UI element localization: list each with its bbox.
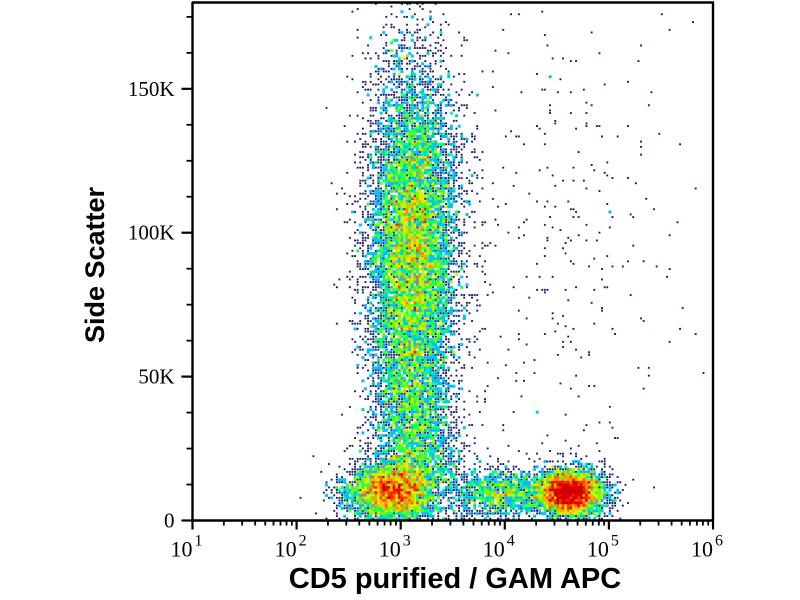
y-tick-label: 100K: [128, 221, 175, 245]
x-axis-title: CD5 purified / GAM APC: [289, 563, 621, 595]
y-axis-title: Side Scatter: [80, 186, 110, 343]
y-tick-label: 150K: [128, 77, 175, 101]
y-tick-label: 50K: [138, 365, 174, 389]
scatter-plot-canvas: 101102103104105106 050K100K150K CD5 puri…: [0, 0, 800, 600]
flow-cytometry-figure: 101102103104105106 050K100K150K CD5 puri…: [0, 0, 800, 600]
y-tick-label: 0: [164, 509, 175, 533]
